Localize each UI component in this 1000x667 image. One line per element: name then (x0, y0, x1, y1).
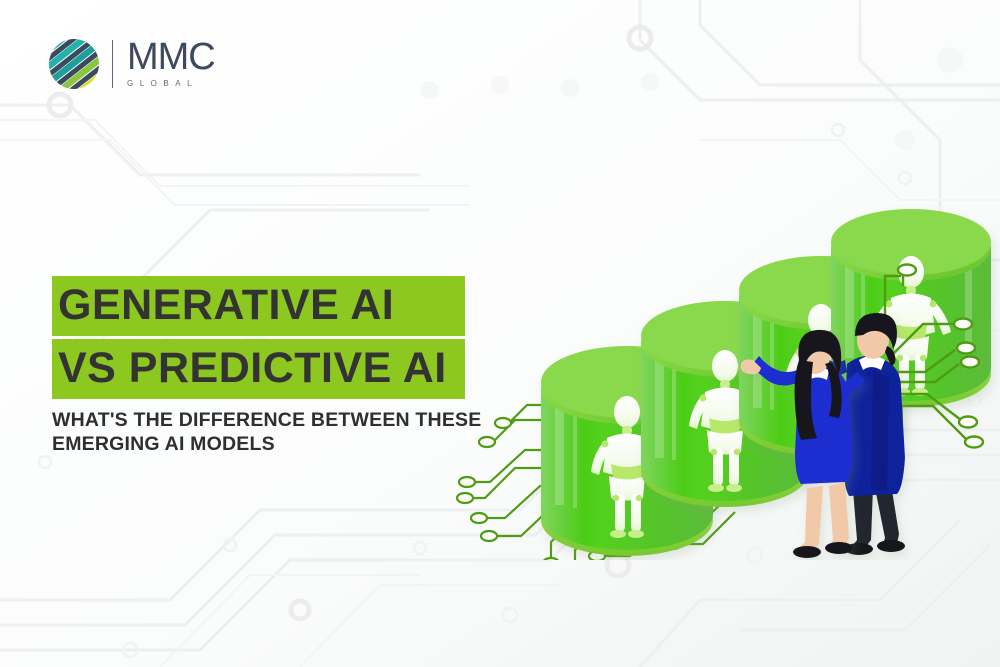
logo-name: MMC (127, 40, 215, 75)
headline-line-1: GENERATIVE AI (52, 276, 465, 336)
brand-logo[interactable]: MMC GLOBAL (48, 38, 215, 90)
headline-line-2: VS PREDICTIVE AI (52, 339, 465, 399)
logo-wordmark: MMC GLOBAL (127, 40, 215, 89)
mmc-emblem-icon (48, 38, 100, 90)
logo-divider (112, 40, 113, 88)
headline-block: GENERATIVE AI VS PREDICTIVE AI WHAT'S TH… (52, 276, 522, 457)
logo-tagline: GLOBAL (127, 79, 215, 88)
ai-illustration (455, 120, 1000, 560)
subheadline: WHAT'S THE DIFFERENCE BETWEEN THESE EMER… (52, 409, 482, 457)
poster-canvas: MMC GLOBAL GENERATIVE AI VS PREDICTIVE A… (0, 0, 1000, 667)
